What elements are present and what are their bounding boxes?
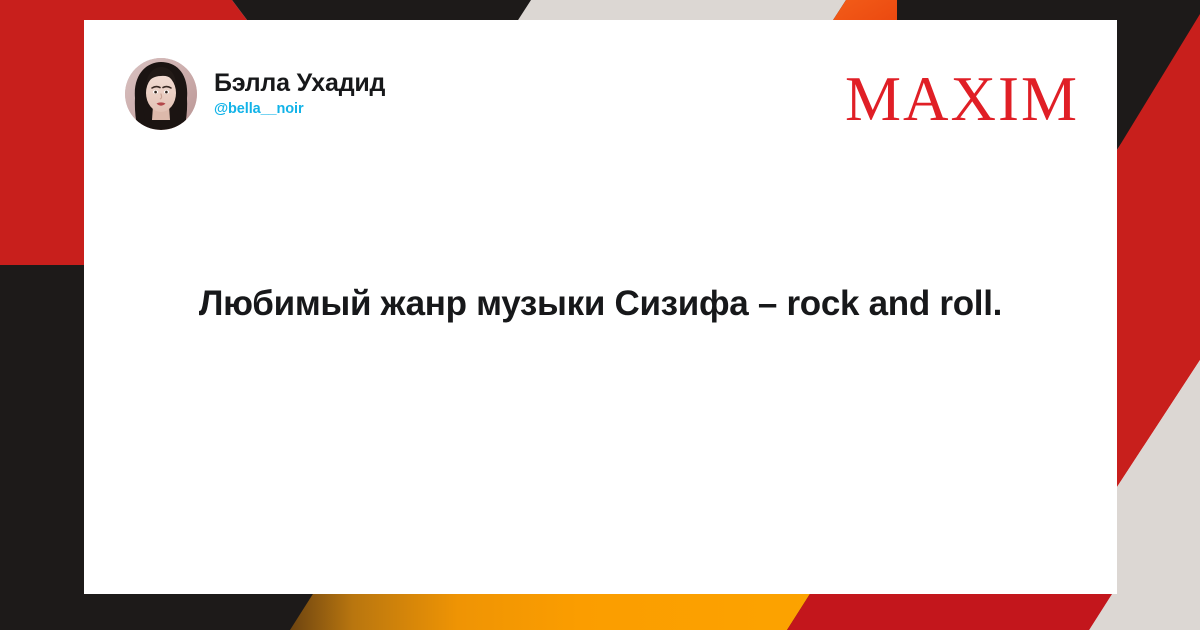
author-text: Бэлла Ухадид @bella__noir — [214, 70, 385, 117]
author-name: Бэлла Ухадид — [214, 70, 385, 98]
maxim-logo: MAXIM — [845, 68, 1079, 131]
author-block: Бэлла Ухадид @bella__noir — [125, 58, 385, 130]
quote-card-image: Бэлла Ухадид @bella__noir MAXIM Любимый … — [0, 0, 1200, 630]
content-card: Бэлла Ухадид @bella__noir MAXIM Любимый … — [84, 20, 1117, 594]
bg-left-dark-column — [0, 265, 84, 630]
bg-left-red-column — [0, 0, 84, 265]
author-handle[interactable]: @bella__noir — [214, 102, 385, 118]
avatar-portrait-woman-icon — [125, 58, 197, 130]
quote-text: Любимый жанр музыки Сизифа – rock and ro… — [84, 282, 1117, 327]
avatar — [125, 58, 197, 130]
